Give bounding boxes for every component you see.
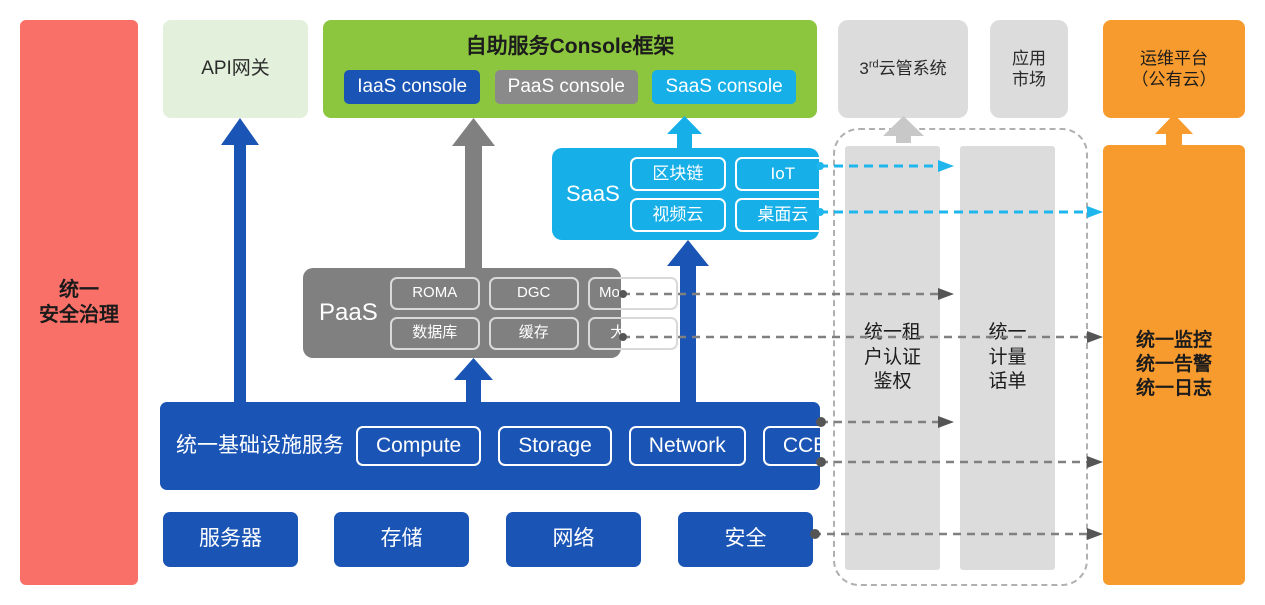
arrow-paas-to-console xyxy=(452,118,495,268)
architecture-diagram: 统一 安全治理 API网关 自助服务Console框架 IaaS console… xyxy=(0,0,1265,605)
arrow-to-third-party-cloud xyxy=(883,116,924,143)
solid-arrows-layer xyxy=(0,0,1265,605)
dashed-saas-to-ops-panel xyxy=(816,206,1103,218)
dashed-infra-to-ops-panel xyxy=(816,456,1103,468)
dashed-security-to-ops-panel xyxy=(810,528,1103,540)
dashed-saas-to-auth xyxy=(816,160,954,172)
arrow-ops-panel-to-ops-top xyxy=(1155,114,1193,149)
dashed-paas-to-auth xyxy=(619,288,954,300)
arrow-infra-to-api-gateway xyxy=(221,118,259,404)
arrow-infra-to-paas xyxy=(454,358,493,404)
arrow-infra-to-saas xyxy=(667,240,709,404)
dashed-infra-to-auth xyxy=(816,416,954,428)
arrow-saas-to-saas-console xyxy=(667,116,702,150)
